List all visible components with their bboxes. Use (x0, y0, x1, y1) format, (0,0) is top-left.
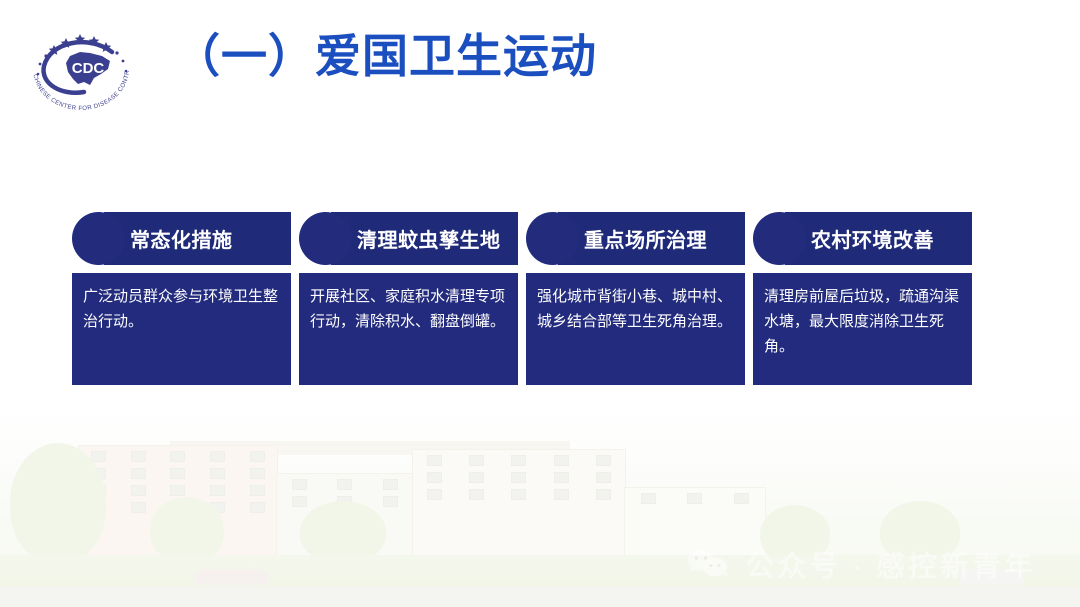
photo-tree (760, 505, 830, 563)
card-body-text: 开展社区、家庭积水清理专项行动，清除积水、翻盘倒罐。 (299, 273, 518, 385)
measure-card[interactable]: 常态化措施 广泛动员群众参与环境卫生整治行动。 (72, 207, 291, 385)
photo-roofline (170, 441, 570, 455)
card-body-text: 清理房前屋后垃圾，疏通沟渠水塘，最大限度消除卫生死角。 (753, 273, 972, 385)
photo-car (196, 569, 268, 585)
photo-tree (10, 443, 106, 563)
measures-card-row: 常态化措施 广泛动员群众参与环境卫生整治行动。 清理蚊虫孳生地 开展社区、家庭积… (72, 207, 996, 385)
card-header: 重点场所治理 (526, 212, 745, 265)
photo-building-mid (276, 473, 414, 559)
china-cdc-logo: CDC CHINESE CENTER FOR DISEASE CONTROL A… (16, 12, 146, 114)
bullet-circle-icon (299, 212, 352, 265)
card-heading: 常态化措施 (130, 212, 285, 265)
card-heading: 清理蚊虫孳生地 (357, 212, 512, 265)
photo-building-right (412, 449, 626, 559)
slide-canvas: CDC CHINESE CENTER FOR DISEASE CONTROL A… (0, 0, 1080, 607)
bullet-circle-icon (72, 212, 125, 265)
background-photo-watermark (0, 347, 1080, 607)
wechat-watermark: 公众号 · 感控新青年 (685, 543, 1036, 585)
card-body-text: 广泛动员群众参与环境卫生整治行动。 (72, 273, 291, 385)
photo-building-left (78, 445, 278, 559)
photo-tree (300, 501, 386, 563)
photo-building-far (624, 487, 766, 559)
measure-card[interactable]: 清理蚊虫孳生地 开展社区、家庭积水清理专项行动，清除积水、翻盘倒罐。 (299, 207, 518, 385)
wechat-watermark-text: 公众号 · 感控新青年 (745, 543, 1036, 585)
photo-tree (880, 501, 960, 563)
card-header: 清理蚊虫孳生地 (299, 212, 518, 265)
measure-card[interactable]: 农村环境改善 清理房前屋后垃圾，疏通沟渠水塘，最大限度消除卫生死角。 (753, 207, 972, 385)
card-header: 农村环境改善 (753, 212, 972, 265)
card-heading: 重点场所治理 (584, 212, 739, 265)
card-body-text: 强化城市背街小巷、城中村、城乡结合部等卫生死角治理。 (526, 273, 745, 385)
photo-car (960, 569, 1024, 585)
measure-card[interactable]: 重点场所治理 强化城市背街小巷、城中村、城乡结合部等卫生死角治理。 (526, 207, 745, 385)
bullet-circle-icon (753, 212, 806, 265)
photo-road (0, 587, 1080, 607)
card-heading: 农村环境改善 (811, 212, 966, 265)
photo-sky (0, 347, 1080, 607)
wechat-icon (685, 547, 731, 581)
photo-tree (150, 497, 224, 563)
photo-ground (0, 555, 1080, 607)
page-title: （一）爱国卫生运动 (174, 28, 597, 86)
logo-cdc-text: CDC (72, 60, 105, 77)
bullet-circle-icon (526, 212, 579, 265)
card-header: 常态化措施 (72, 212, 291, 265)
